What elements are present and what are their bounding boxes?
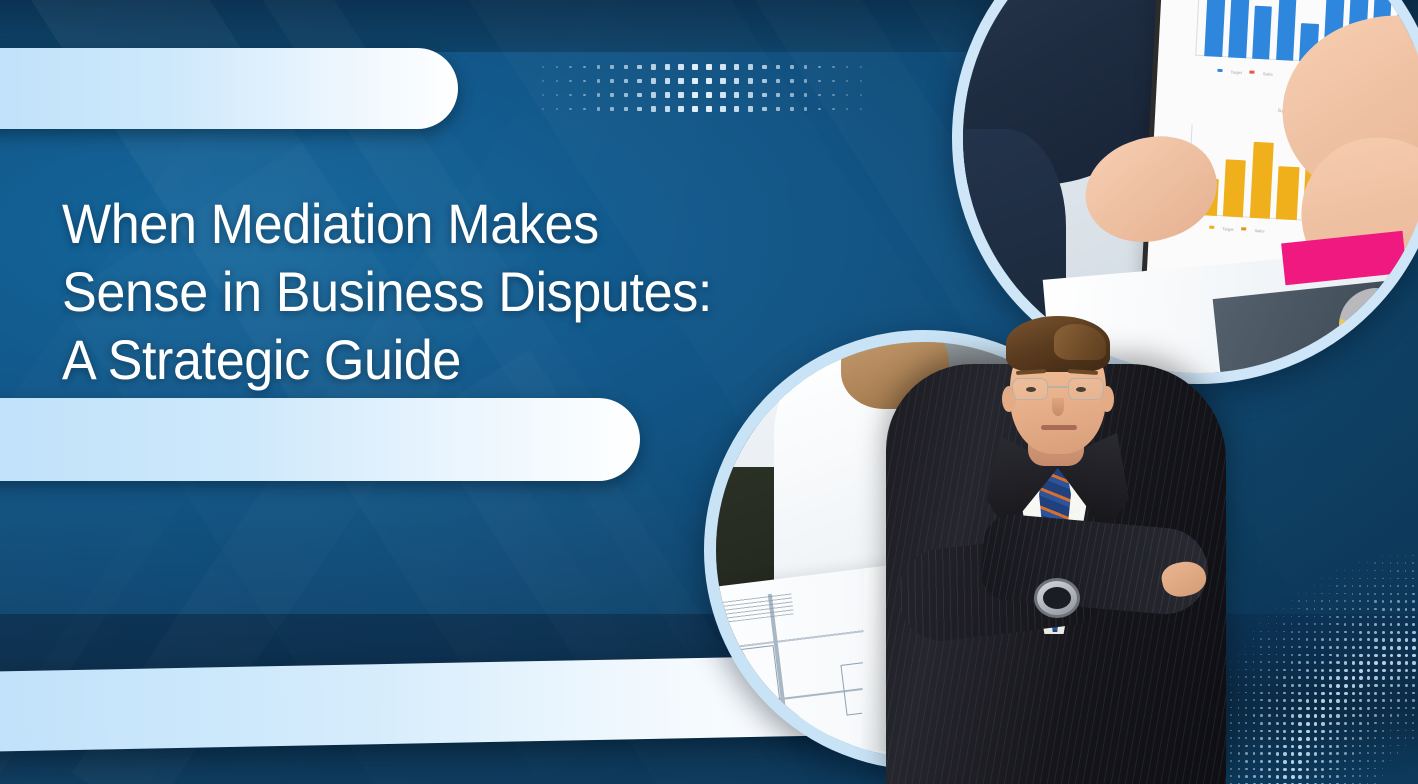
glasses-icon xyxy=(1012,378,1104,400)
chart-a-legend: Target Sales xyxy=(1218,68,1273,76)
photo-pie-chart xyxy=(1339,288,1414,363)
chart-a-y-axis xyxy=(1195,0,1201,56)
chart-a-legend-0: Target xyxy=(1231,69,1242,75)
blueprint-room-1 xyxy=(718,645,781,712)
businessman-mouth xyxy=(1041,425,1077,430)
chart-b-legend-1: Sales xyxy=(1254,228,1264,234)
glasses-lens-right xyxy=(1068,378,1104,400)
halftone-dot-grid xyxy=(536,60,868,116)
businessman-nose xyxy=(1052,398,1064,416)
radial-halftone-dots xyxy=(1228,530,1418,784)
decorative-bar-top xyxy=(0,48,458,129)
glasses-lens-left xyxy=(1012,378,1048,400)
page-title: When Mediation Makes Sense in Business D… xyxy=(62,190,787,394)
chart-a-legend-1: Sales xyxy=(1263,71,1273,77)
glasses-bridge xyxy=(1048,386,1068,388)
decorative-bar-middle xyxy=(0,398,640,481)
wristwatch-icon xyxy=(1034,578,1080,618)
hero-banner: When Mediation Makes Sense in Business D… xyxy=(0,0,1418,784)
foreground-businessman xyxy=(886,150,1226,784)
